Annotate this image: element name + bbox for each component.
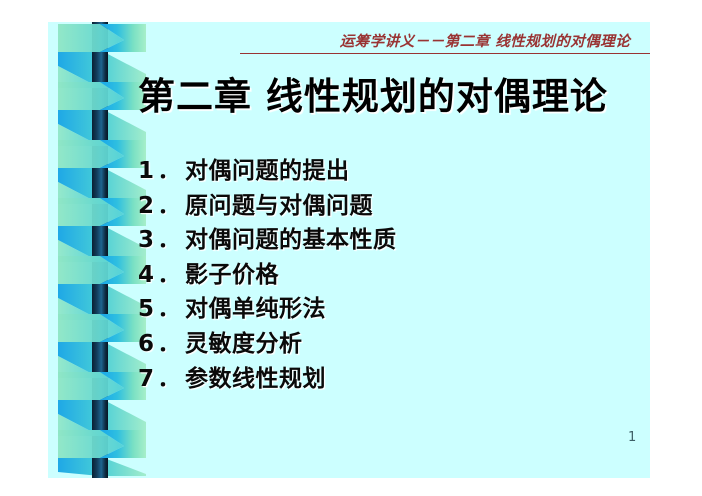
list-item-label: 对偶问题的基本性质 — [185, 227, 397, 253]
list-item-number: 5 — [138, 296, 155, 322]
agenda-list: 1．对偶问题的提出 2．原问题与对偶问题 3．对偶问题的基本性质 4．影子价格 … — [138, 154, 598, 396]
list-item-dot: ． — [158, 262, 182, 288]
list-item-label: 原问题与对偶问题 — [185, 193, 373, 219]
slide-canvas: 运筹学讲义－－第二章 线性规划的对偶理论 第二章 线性规划的对偶理论 1．对偶问… — [48, 22, 650, 478]
list-item-number: 2 — [138, 193, 155, 219]
list-item: 5．对偶单纯形法 — [138, 292, 598, 327]
list-item-dot: ． — [158, 366, 182, 392]
list-item-label: 参数线性规划 — [185, 366, 326, 392]
list-item-label: 对偶问题的提出 — [185, 158, 350, 184]
list-item: 1．对偶问题的提出 — [138, 154, 598, 189]
list-item: 3．对偶问题的基本性质 — [138, 223, 598, 258]
list-item-dot: ． — [158, 296, 182, 322]
slide-header-text: 运筹学讲义－－第二章 线性规划的对偶理论 — [240, 30, 650, 54]
ribbon-svg — [54, 22, 150, 478]
page-number: 1 — [628, 430, 636, 445]
list-item: 4．影子价格 — [138, 258, 598, 293]
list-item-label: 影子价格 — [185, 262, 279, 288]
list-item-dot: ． — [158, 158, 182, 184]
list-item: 6．灵敏度分析 — [138, 327, 598, 362]
list-item-number: 4 — [138, 262, 155, 288]
list-item-label: 对偶单纯形法 — [185, 296, 326, 322]
list-item-number: 6 — [138, 331, 155, 357]
list-item: 2．原问题与对偶问题 — [138, 189, 598, 224]
list-item-number: 7 — [138, 366, 155, 392]
list-item-dot: ． — [158, 193, 182, 219]
list-item-label: 灵敏度分析 — [185, 331, 303, 357]
list-item-dot: ． — [158, 227, 182, 253]
helix-ribbon-graphic — [54, 22, 150, 478]
page-title: 第二章 线性规划的对偶理论 — [138, 66, 638, 120]
list-item-number: 1 — [138, 158, 155, 184]
list-item: 7．参数线性规划 — [138, 362, 598, 397]
list-item-dot: ． — [158, 331, 182, 357]
list-item-number: 3 — [138, 227, 155, 253]
